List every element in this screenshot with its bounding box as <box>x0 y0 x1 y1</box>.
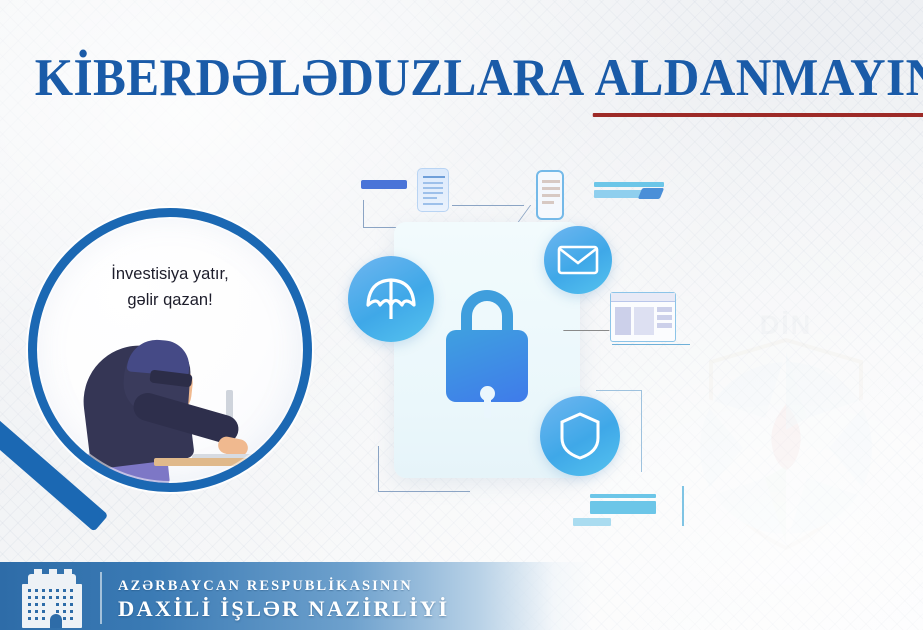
mail-icon <box>544 226 612 294</box>
umbrella-icon <box>348 256 434 342</box>
decor-blue-bar-right <box>638 188 664 199</box>
browser-pane-r2 <box>657 315 672 320</box>
ministry-line2: DAXİLİ İŞLƏR NAZİRLİYİ <box>118 596 449 622</box>
title-plain-part: KİBERDƏLƏDUZLARA <box>35 49 595 107</box>
page-title: KİBERDƏLƏDUZLARA ALDANMAYIN! <box>0 48 923 108</box>
envelope-glyph <box>557 244 599 276</box>
watermark-din-text: DİN <box>661 310 911 341</box>
ministry-name: AZƏRBAYCAN RESPUBLİKASININ DAXİLİ İŞLƏR … <box>118 578 449 622</box>
desk-leg <box>268 464 274 486</box>
browser-titlebar <box>611 293 675 302</box>
magnifier-ring <box>28 208 312 492</box>
decor-connector-browser <box>612 344 690 346</box>
decor-cyan-bar-e <box>573 518 611 526</box>
decor-blue-bar-left <box>361 180 407 189</box>
decor-connector-mid <box>452 205 524 207</box>
ministry-banner: AZƏRBAYCAN RESPUBLİKASININ DAXİLİ İŞLƏR … <box>0 562 923 630</box>
document-icon <box>417 168 449 212</box>
title-text: KİBERDƏLƏDUZLARA ALDANMAYIN! <box>35 48 923 108</box>
ministry-watermark-emblem: DİN <box>661 300 911 565</box>
padlock-keyhole-slot <box>484 396 491 418</box>
decor-connector-bottom-left <box>378 446 470 492</box>
browser-window-icon <box>610 292 676 342</box>
magnifier-graphic: İnvestisiya yatır, gəlir qazan! <box>18 208 318 508</box>
padlock-body <box>446 330 528 402</box>
poster-canvas: DİN KİBERDƏLƏDUZLARA ALDANMAYIN! <box>0 0 923 630</box>
browser-pane-mid <box>634 307 654 335</box>
phone-icon <box>536 170 564 220</box>
padlock-icon <box>446 290 528 402</box>
ministry-line1: AZƏRBAYCAN RESPUBLİKASININ <box>118 578 449 595</box>
decor-vertical-tick <box>682 486 684 526</box>
umbrella-glyph <box>364 273 418 325</box>
title-underlined-part: ALDANMAYIN! <box>595 48 923 108</box>
building-entrance <box>50 614 62 628</box>
decor-cyan-bar-a <box>594 182 664 187</box>
browser-pane-r3 <box>657 323 672 328</box>
ministry-building-icon <box>18 568 86 628</box>
browser-pane-r1 <box>657 307 672 312</box>
decor-connector-bottom-right <box>596 390 642 472</box>
decor-cyan-bar-d <box>590 501 656 514</box>
browser-pane-left <box>615 307 631 335</box>
banner-divider <box>100 572 102 624</box>
building-body <box>22 584 82 628</box>
decor-cyan-bar-c <box>590 494 656 498</box>
